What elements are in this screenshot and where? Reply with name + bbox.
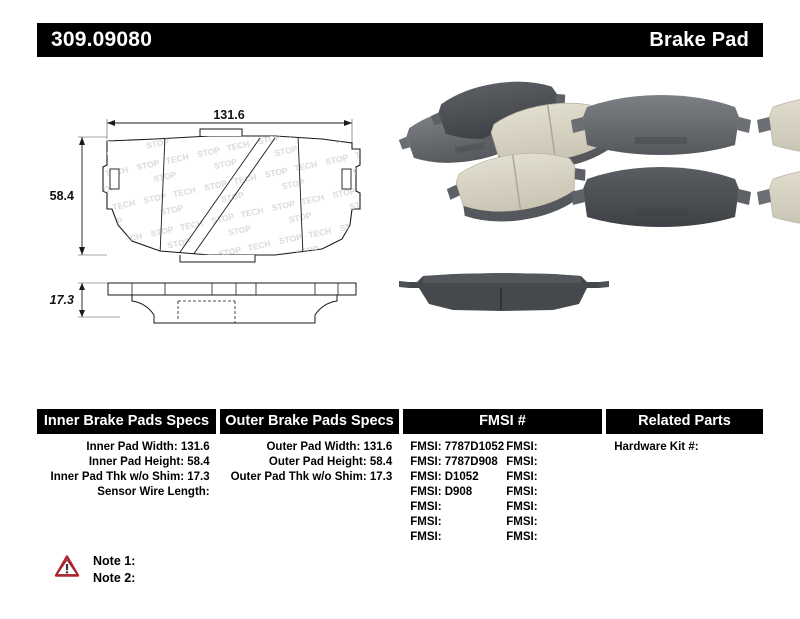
product-spec-sheet: 309.09080 Brake Pad STOP TECH STOP bbox=[0, 0, 800, 619]
spec-line: Inner Pad Width: 131.6 bbox=[37, 440, 210, 455]
table-body-row: Inner Pad Width: 131.6 Inner Pad Height:… bbox=[37, 440, 763, 545]
note-line-2: Note 2: bbox=[93, 570, 135, 587]
fmsi-line: FMSI: bbox=[410, 500, 506, 515]
fmsi-line: FMSI: bbox=[506, 470, 602, 485]
spec-line: Sensor Wire Length: bbox=[37, 485, 210, 500]
spec-line: Inner Pad Thk w/o Shim: 17.3 bbox=[37, 470, 210, 485]
fmsi-cell: FMSI: 7787D1052 FMSI: 7787D908 FMSI: D10… bbox=[402, 440, 602, 545]
fmsi-line: FMSI: bbox=[410, 530, 506, 545]
related-parts-cell: Hardware Kit #: bbox=[606, 440, 763, 545]
column-header-inner-specs: Inner Brake Pads Specs bbox=[37, 409, 216, 434]
height-dimension-label: 58.4 bbox=[50, 189, 74, 203]
fmsi-line: FMSI: 7787D1052 bbox=[410, 440, 506, 455]
specifications-table: Inner Brake Pads Specs Outer Brake Pads … bbox=[37, 409, 763, 545]
fmsi-line: FMSI: bbox=[506, 500, 602, 515]
spec-line: Outer Pad Height: 58.4 bbox=[220, 455, 393, 470]
product-photos bbox=[395, 85, 785, 345]
column-header-fmsi: FMSI # bbox=[403, 409, 602, 434]
spec-line: Outer Pad Thk w/o Shim: 17.3 bbox=[220, 470, 393, 485]
note-lines: Note 1: Note 2: bbox=[93, 553, 135, 587]
product-type-label: Brake Pad bbox=[649, 29, 749, 52]
thickness-dimension-label: 17.3 bbox=[50, 293, 74, 307]
note-line-1: Note 1: bbox=[93, 553, 135, 570]
outer-specs-cell: Outer Pad Width: 131.6 Outer Pad Height:… bbox=[220, 440, 399, 545]
width-dimension-label: 131.6 bbox=[213, 108, 244, 122]
fmsi-line: FMSI: bbox=[506, 485, 602, 500]
fmsi-line: FMSI: D908 bbox=[410, 485, 506, 500]
column-header-related-parts: Related Parts bbox=[606, 409, 763, 434]
brake-pad-edge-photo bbox=[399, 273, 609, 311]
technical-drawing: STOP TECH STOP 131.6 bbox=[60, 105, 400, 355]
fmsi-line: FMSI: bbox=[506, 440, 602, 455]
fmsi-line: FMSI: bbox=[410, 515, 506, 530]
fmsi-line: FMSI: bbox=[506, 515, 602, 530]
related-part-line: Hardware Kit #: bbox=[614, 440, 763, 455]
inner-specs-cell: Inner Pad Width: 131.6 Inner Pad Height:… bbox=[37, 440, 216, 545]
fmsi-line: FMSI: 7787D908 bbox=[410, 455, 506, 470]
table-header-row: Inner Brake Pads Specs Outer Brake Pads … bbox=[37, 409, 763, 434]
part-number: 309.09080 bbox=[51, 28, 152, 52]
fmsi-line: FMSI: bbox=[506, 530, 602, 545]
spec-line: Inner Pad Height: 58.4 bbox=[37, 455, 210, 470]
spec-line: Outer Pad Width: 131.6 bbox=[220, 440, 393, 455]
brake-pad-set-flat-photo bbox=[571, 95, 800, 227]
fmsi-line: FMSI: D1052 bbox=[410, 470, 506, 485]
fmsi-column-right: FMSI: FMSI: FMSI: FMSI: FMSI: FMSI: FMSI… bbox=[506, 440, 602, 545]
column-header-outer-specs: Outer Brake Pads Specs bbox=[220, 409, 399, 434]
notes-section: Note 1: Note 2: bbox=[55, 553, 135, 587]
height-dimension bbox=[78, 137, 107, 255]
warning-triangle-icon bbox=[55, 555, 79, 577]
fmsi-line: FMSI: bbox=[506, 455, 602, 470]
pad-side-view: 17.3 bbox=[50, 275, 356, 331]
fmsi-column-left: FMSI: 7787D1052 FMSI: 7787D908 FMSI: D10… bbox=[410, 440, 506, 545]
page-header-bar: 309.09080 Brake Pad bbox=[37, 23, 763, 57]
